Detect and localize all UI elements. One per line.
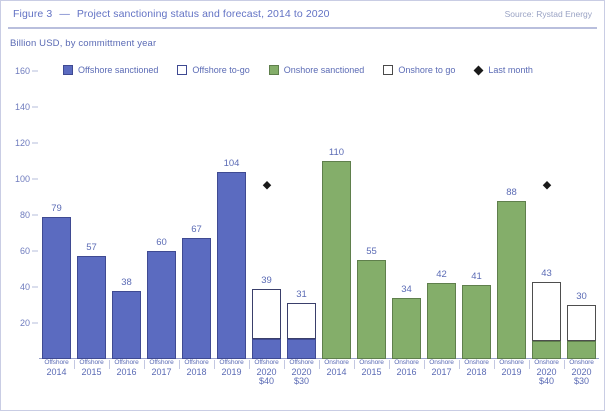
x-axis-separator (494, 360, 495, 369)
bar-value-label: 79 (39, 203, 74, 214)
y-axis-tick-mark (32, 107, 38, 108)
x-axis-group-label: Offshore (74, 360, 109, 367)
bar-offshore-to-go[interactable] (252, 289, 281, 339)
y-axis-tick-mark (32, 287, 38, 288)
bar-value-label: 57 (74, 242, 109, 253)
x-axis-category-onshore-2017[interactable]: Onshore2017 (424, 360, 459, 377)
bar-slot[interactable]: 104 (214, 71, 249, 359)
x-axis-group-label: Onshore (529, 360, 564, 367)
x-axis-price-label: $30 (564, 377, 599, 386)
bar-value-label: 55 (354, 246, 389, 257)
bar-offshore-sanctioned[interactable] (112, 291, 141, 359)
y-axis-tick-mark (32, 71, 38, 72)
bar-offshore-sanctioned[interactable] (182, 238, 211, 359)
x-axis-category-onshore-2015[interactable]: Onshore2015 (354, 360, 389, 377)
x-axis-year-label: 2019 (494, 368, 529, 377)
x-axis-category-offshore-2018[interactable]: Offshore2018 (179, 360, 214, 377)
y-axis-tick-mark (32, 143, 38, 144)
bar-value-label: 88 (494, 187, 529, 198)
bar-value-label: 30 (564, 291, 599, 302)
bar-slot[interactable]: 79 (39, 71, 74, 359)
x-axis-category-offshore-2017[interactable]: Offshore2017 (144, 360, 179, 377)
x-axis-group-label: Offshore (109, 360, 144, 367)
x-axis-separator (179, 360, 180, 369)
bar-offshore-sanctioned[interactable] (217, 172, 246, 359)
bar-slot[interactable]: 88 (494, 71, 529, 359)
x-axis-category-onshore-2016[interactable]: Onshore2016 (389, 360, 424, 377)
x-axis-year-label: 2014 (319, 368, 354, 377)
x-axis-year-label: 2016 (109, 368, 144, 377)
x-axis-separator (214, 360, 215, 369)
x-axis-group-label: Onshore (424, 360, 459, 367)
bar-value-label: 41 (459, 271, 494, 282)
x-axis-labels: Offshore2014Offshore2015Offshore2016Offs… (39, 360, 599, 410)
x-axis-category-offshore-2019[interactable]: Offshore2019 (214, 360, 249, 377)
bar-offshore-sanctioned[interactable] (287, 339, 316, 359)
axis-unit-subtitle: Billion USD, by committment year (10, 38, 156, 49)
x-axis-group-label: Onshore (389, 360, 424, 367)
x-axis-group-label: Onshore (354, 360, 389, 367)
bar-slot[interactable]: 60 (144, 71, 179, 359)
bar-slot[interactable]: 57 (74, 71, 109, 359)
x-axis-separator (249, 360, 250, 369)
bar-value-label: 42 (424, 269, 459, 280)
bar-value-label: 43 (529, 268, 564, 279)
bar-value-label: 60 (144, 237, 179, 248)
x-axis-category-offshore-2014[interactable]: Offshore2014 (39, 360, 74, 377)
figure-header: Figure 3 — Project sanctioning status an… (1, 1, 604, 27)
bar-slot[interactable]: 55 (354, 71, 389, 359)
figure-dash: — (59, 8, 70, 20)
x-axis-group-label: Offshore (144, 360, 179, 367)
bar-slot[interactable]: 41 (459, 71, 494, 359)
x-axis-category-offshore-2016[interactable]: Offshore2016 (109, 360, 144, 377)
x-axis-category-offshore-2020-30[interactable]: Offshore2020$30 (284, 360, 319, 387)
bar-series-container: 7957386067104393111055344241884330 (39, 71, 599, 359)
x-axis-separator (109, 360, 110, 369)
bar-slot[interactable]: 110 (319, 71, 354, 359)
bar-slot[interactable]: 34 (389, 71, 424, 359)
y-axis-tick-mark (32, 179, 38, 180)
bar-onshore-to-go[interactable] (567, 305, 596, 341)
x-axis-separator (459, 360, 460, 369)
bar-slot[interactable]: 31 (284, 71, 319, 359)
x-axis-category-offshore-2020-40[interactable]: Offshore2020$40 (249, 360, 284, 387)
x-axis-group-label: Offshore (214, 360, 249, 367)
figure-number: Figure 3 (13, 8, 52, 20)
figure-header-left: Figure 3 — Project sanctioning status an… (13, 8, 330, 20)
y-axis-tick-mark (32, 323, 38, 324)
x-axis-year-label: 2019 (214, 368, 249, 377)
plot-area: 20406080100120140160 7957386067104393111… (39, 71, 599, 359)
x-axis-separator (389, 360, 390, 369)
x-axis-year-label: 2015 (354, 368, 389, 377)
x-axis-group-label: Onshore (494, 360, 529, 367)
chart-figure: Figure 3 — Project sanctioning status an… (0, 0, 605, 411)
header-divider (8, 27, 597, 29)
bar-slot[interactable]: 38 (109, 71, 144, 359)
bar-onshore-sanctioned[interactable] (322, 161, 351, 359)
x-axis-price-label: $30 (284, 377, 319, 386)
y-axis-tick-mark (32, 215, 38, 216)
bar-slot[interactable]: 67 (179, 71, 214, 359)
bar-onshore-sanctioned[interactable] (427, 283, 456, 359)
bar-slot[interactable]: 30 (564, 71, 599, 359)
bar-value-label: 31 (284, 289, 319, 300)
figure-title: Project sanctioning status and forecast,… (77, 8, 330, 20)
bar-value-label: 39 (249, 275, 284, 286)
x-axis-group-label: Offshore (179, 360, 214, 367)
x-axis-year-label: 2017 (144, 368, 179, 377)
bar-offshore-sanctioned[interactable] (77, 256, 106, 359)
x-axis-separator (354, 360, 355, 369)
x-axis-group-label: Onshore (319, 360, 354, 367)
bar-value-label: 34 (389, 284, 424, 295)
bar-offshore-sanctioned[interactable] (42, 217, 71, 359)
x-axis-category-offshore-2015[interactable]: Offshore2015 (74, 360, 109, 377)
x-axis-separator (529, 360, 530, 369)
x-axis-category-onshore-2020-30[interactable]: Onshore2020$30 (564, 360, 599, 387)
bar-onshore-to-go[interactable] (532, 282, 561, 341)
x-axis-year-label: 2015 (74, 368, 109, 377)
x-axis-separator (284, 360, 285, 369)
bar-onshore-sanctioned[interactable] (357, 260, 386, 359)
bar-value-label: 104 (214, 158, 249, 169)
bar-slot[interactable]: 39 (249, 71, 284, 359)
x-axis-year-label: 2018 (459, 368, 494, 377)
bar-offshore-sanctioned[interactable] (252, 339, 281, 359)
x-axis-year-label: 2014 (39, 368, 74, 377)
bar-offshore-sanctioned[interactable] (147, 251, 176, 359)
x-axis-group-label: Onshore (459, 360, 494, 367)
x-axis-group-label: Offshore (39, 360, 74, 367)
x-axis-price-label: $40 (249, 377, 284, 386)
x-axis-separator (144, 360, 145, 369)
x-axis-category-onshore-2019[interactable]: Onshore2019 (494, 360, 529, 377)
x-axis-year-label: 2017 (424, 368, 459, 377)
bar-slot[interactable]: 43 (529, 71, 564, 359)
x-axis-group-label: Offshore (284, 360, 319, 367)
bar-value-label: 38 (109, 277, 144, 288)
bar-offshore-to-go[interactable] (287, 303, 316, 339)
x-axis-category-onshore-2014[interactable]: Onshore2014 (319, 360, 354, 377)
x-axis-price-label: $40 (529, 377, 564, 386)
bar-onshore-sanctioned[interactable] (462, 285, 491, 359)
x-axis-group-label: Offshore (249, 360, 284, 367)
x-axis-category-onshore-2020-40[interactable]: Onshore2020$40 (529, 360, 564, 387)
x-axis-separator (319, 360, 320, 369)
x-axis-year-label: 2016 (389, 368, 424, 377)
bar-value-label: 67 (179, 224, 214, 235)
bar-onshore-sanctioned[interactable] (392, 298, 421, 359)
x-axis-year-label: 2018 (179, 368, 214, 377)
x-axis-separator (564, 360, 565, 369)
bar-slot[interactable]: 42 (424, 71, 459, 359)
bar-value-label: 110 (319, 147, 354, 158)
figure-source: Source: Rystad Energy (505, 9, 592, 19)
bar-onshore-sanctioned[interactable] (532, 341, 561, 359)
y-axis-tick-mark (32, 251, 38, 252)
x-axis-category-onshore-2018[interactable]: Onshore2018 (459, 360, 494, 377)
bar-onshore-sanctioned[interactable] (497, 201, 526, 359)
x-axis-separator (74, 360, 75, 369)
x-axis-group-label: Onshore (564, 360, 599, 367)
x-axis-separator (424, 360, 425, 369)
bar-onshore-sanctioned[interactable] (567, 341, 596, 359)
